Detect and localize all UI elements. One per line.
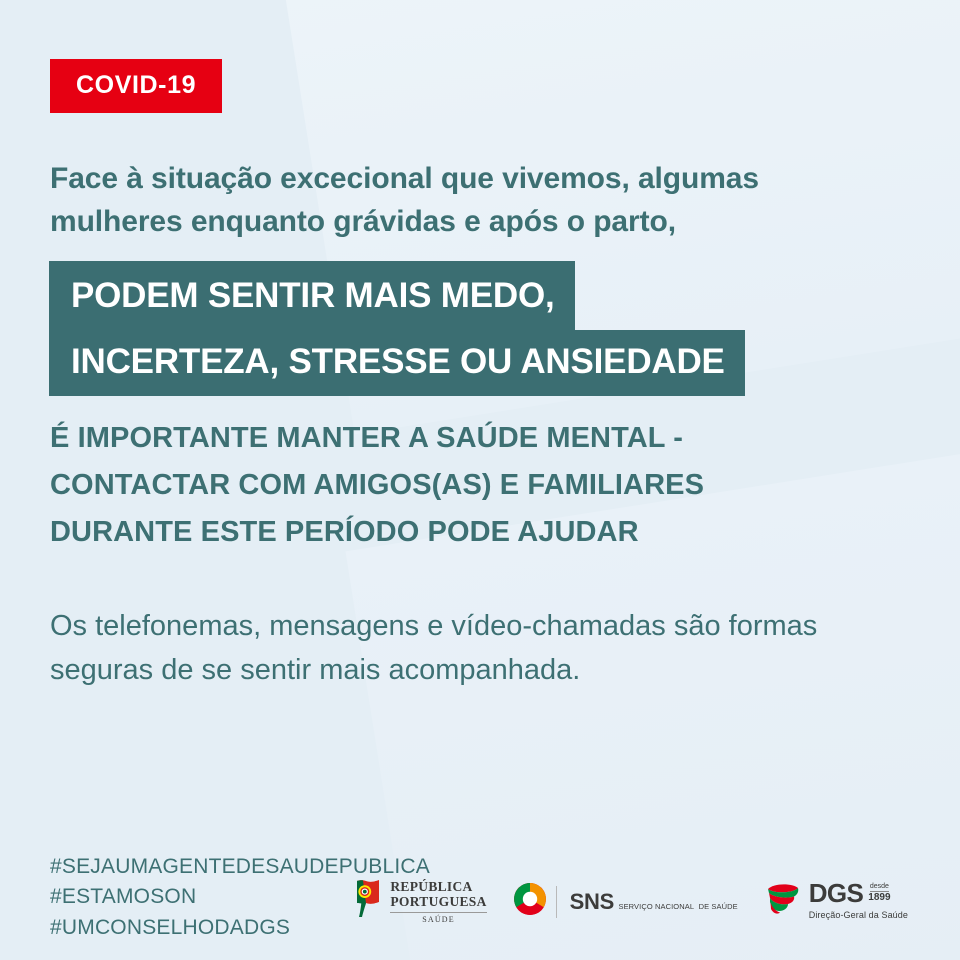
sns-text: SNS SERVIÇO NACIONAL DE SAÚDE [570, 891, 738, 913]
dgs-subtitle: Direção-Geral da Saúde [809, 910, 908, 920]
body-message: Os telefonemas, mensagens e vídeo-chamad… [50, 604, 840, 692]
sns-name: SNS [570, 889, 614, 914]
sns-swirl-icon [513, 882, 547, 921]
sns-subtitle-line-2: DE SAÚDE [699, 902, 738, 911]
portugal-flag-crest-icon [353, 878, 383, 925]
logo-sns: SNS SERVIÇO NACIONAL DE SAÚDE [513, 882, 738, 921]
highlight-block: PODEM SENTIR MAIS MEDO, INCERTEZA, STRES… [49, 261, 745, 396]
highlight-line-1: PODEM SENTIR MAIS MEDO, [49, 261, 575, 330]
sns-divider [556, 886, 557, 918]
logo-row: REPÚBLICA PORTUGUESA SAÚDE [353, 878, 908, 925]
intro-paragraph: Face à situação excecional que vivemos, … [50, 158, 880, 243]
dgs-globe-icon [764, 882, 802, 921]
republica-line-1: REPÚBLICA [390, 879, 486, 894]
republica-rule [390, 912, 486, 913]
upper-message: É IMPORTANTE MANTER A SAÚDE MENTAL - CON… [50, 415, 850, 556]
republica-line-2: PORTUGUESA [390, 894, 486, 909]
dgs-since-year: 1899 [868, 892, 890, 903]
poster-canvas: COVID-19 Face à situação excecional que … [0, 0, 960, 960]
logo-dgs: DGS desde 1899 Direção-Geral da Saúde [764, 881, 908, 922]
republica-subtitle: SAÚDE [390, 916, 486, 924]
highlight-line-2: INCERTEZA, STRESSE OU ANSIEDADE [49, 330, 745, 396]
covid19-badge: COVID-19 [50, 59, 222, 113]
dgs-since-block: desde 1899 [868, 881, 890, 903]
dgs-top-row: DGS desde 1899 [809, 881, 908, 906]
dgs-text: DGS desde 1899 Direção-Geral da Saúde [809, 881, 908, 922]
dgs-since-label: desde [870, 883, 889, 892]
dgs-name: DGS [809, 881, 864, 906]
republica-portuguesa-text: REPÚBLICA PORTUGUESA SAÚDE [390, 879, 486, 924]
logo-republica-portuguesa: REPÚBLICA PORTUGUESA SAÚDE [353, 878, 486, 925]
sns-subtitle-line-1: SERVIÇO NACIONAL [618, 902, 694, 911]
